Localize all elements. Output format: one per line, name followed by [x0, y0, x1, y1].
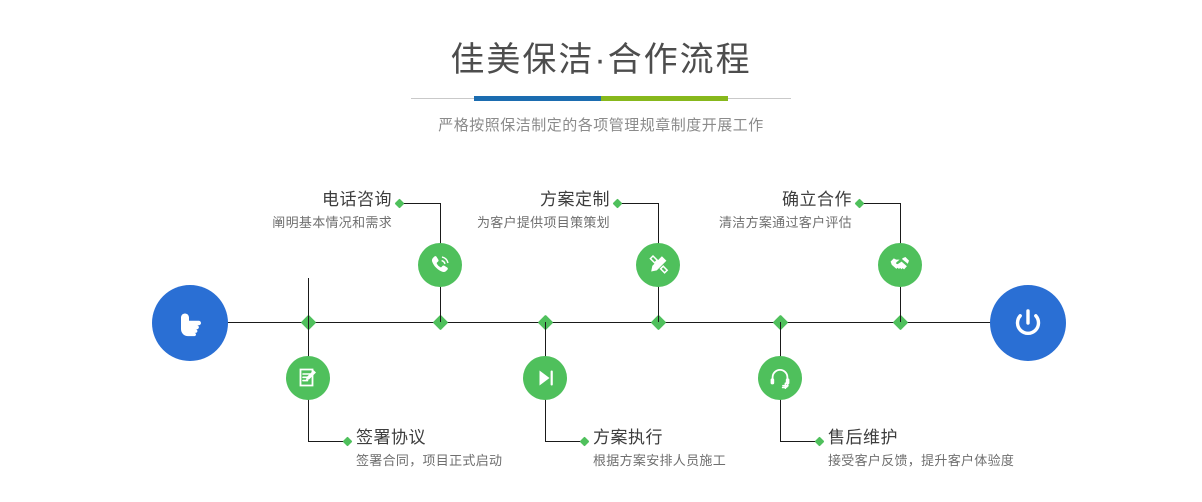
pencil-ruler-icon [645, 252, 671, 278]
timeline-start-endpoint[interactable] [152, 285, 228, 361]
leader-5 [860, 203, 900, 204]
step-title-2: 签署协议 [356, 427, 616, 449]
power-icon [1006, 301, 1050, 345]
step-desc-6: 接受客户反馈，提升客户体验度 [828, 449, 1128, 471]
leader-dot-5 [855, 199, 865, 209]
step-node-6[interactable] [758, 356, 802, 400]
step-desc-2: 签署合同，项目正式启动 [356, 449, 616, 471]
leader-dot-2 [343, 437, 353, 447]
timeline-end-endpoint[interactable] [990, 285, 1066, 361]
step-desc-1: 阐明基本情况和需求 [160, 211, 392, 233]
pointing-hand-icon [170, 303, 210, 343]
step-node-3[interactable] [636, 243, 680, 287]
step-desc-3: 为客户提供项目策策划 [378, 211, 610, 233]
step-desc-5: 清洁方案通过客户评估 [620, 211, 852, 233]
step-title-4: 方案执行 [593, 427, 853, 449]
document-edit-icon [295, 365, 321, 391]
step-title-5: 确立合作 [620, 189, 852, 211]
step-title-6: 售后维护 [828, 427, 1128, 449]
step-node-5[interactable] [878, 243, 922, 287]
headset-support-icon [767, 365, 793, 391]
step-label-5: 确立合作 清洁方案通过客户评估 [620, 189, 852, 233]
phone-call-icon [427, 252, 453, 278]
step-node-2[interactable] [286, 356, 330, 400]
play-execute-icon [532, 365, 558, 391]
step-node-1[interactable] [418, 243, 462, 287]
handshake-icon [887, 252, 913, 278]
step-label-1: 电话咨询 阐明基本情况和需求 [160, 189, 392, 233]
step-node-4[interactable] [523, 356, 567, 400]
process-timeline: 电话咨询 阐明基本情况和需求 签署协议 签署合同，项目正式启动 [0, 0, 1202, 502]
step-label-3: 方案定制 为客户提供项目策策划 [378, 189, 610, 233]
step-label-4: 方案执行 根据方案安排人员施工 [593, 427, 853, 471]
step-label-2: 签署协议 签署合同，项目正式启动 [356, 427, 616, 471]
step-title-3: 方案定制 [378, 189, 610, 211]
step-label-6: 售后维护 接受客户反馈，提升客户体验度 [828, 427, 1128, 471]
stem-1-lower [308, 278, 309, 322]
step-desc-4: 根据方案安排人员施工 [593, 449, 853, 471]
step-title-1: 电话咨询 [160, 189, 392, 211]
